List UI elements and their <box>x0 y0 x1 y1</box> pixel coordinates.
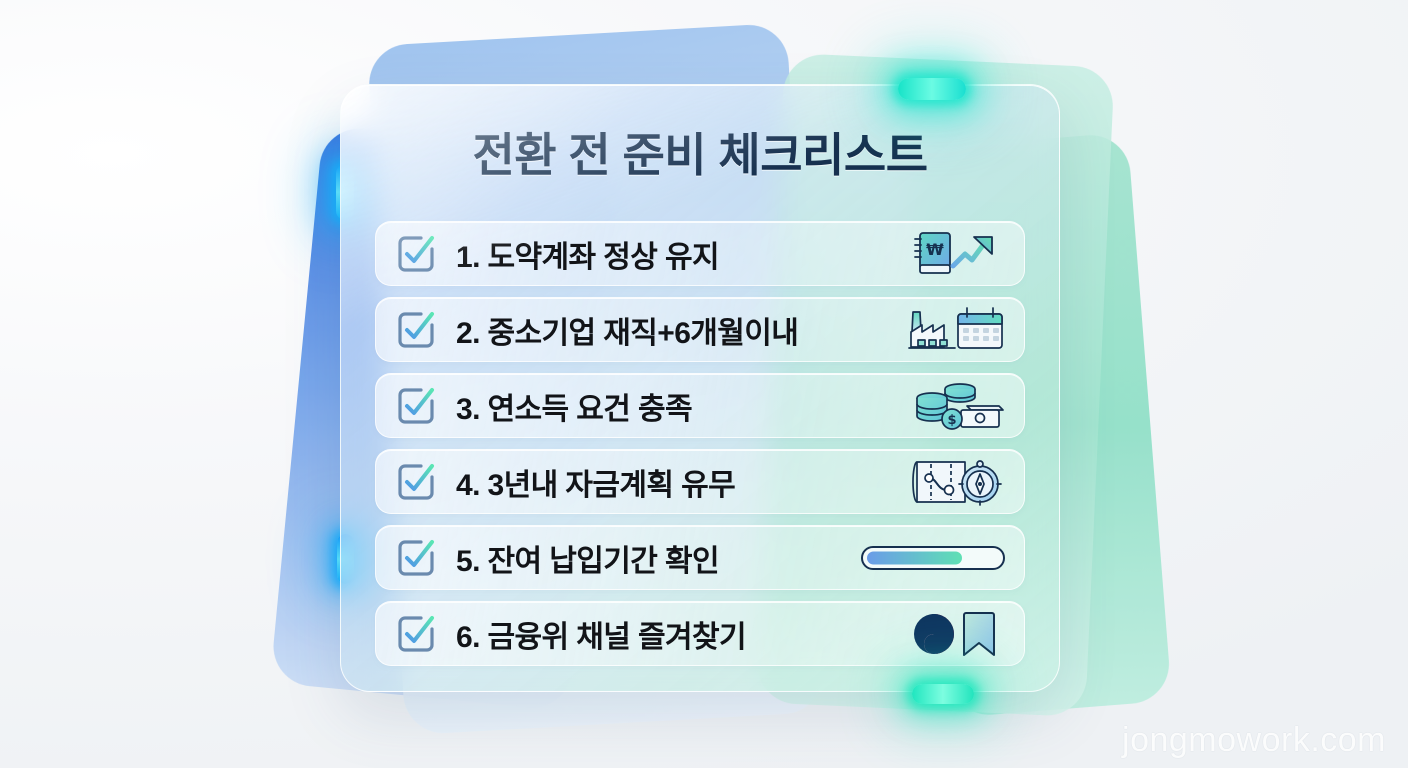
checklist-card: 전환 전 준비 체크리스트 1. 도약계좌 정상 유지 <box>340 84 1060 692</box>
factory-calendar-icon <box>902 303 1008 357</box>
watermark: jongmowork.com <box>1122 721 1386 760</box>
checkbox-checked-icon[interactable] <box>394 384 438 428</box>
checklist-item-6[interactable]: 6. 금융위 채널 즐겨찾기 <box>375 601 1025 666</box>
checklist-item-4[interactable]: 4. 3년내 자금계획 유무 <box>375 449 1025 514</box>
korea-government-emblem <box>914 614 954 654</box>
checklist-item-3[interactable]: 3. 연소득 요건 충족 <box>375 373 1025 438</box>
roadmap-compass-icon <box>902 455 1008 509</box>
progress-bar-icon <box>858 531 1008 585</box>
checklist-rows: 1. 도약계좌 정상 유지 <box>375 221 1025 666</box>
checklist-item-5[interactable]: 5. 잔여 납입기간 확인 <box>375 525 1025 590</box>
checklist-item-label: 4. 3년내 자금계획 유무 <box>456 460 735 504</box>
svg-text:$: $ <box>947 413 956 428</box>
page-title: 전환 전 준비 체크리스트 <box>341 119 1059 185</box>
checkbox-checked-icon[interactable] <box>394 536 438 580</box>
checkbox-checked-icon[interactable] <box>394 232 438 276</box>
korea-emblem-bookmark-icon <box>902 607 1008 661</box>
checklist-item-label: 1. 도약계좌 정상 유지 <box>456 232 719 276</box>
coins-banknote-icon: $ <box>902 379 1008 433</box>
checklist-item-label: 5. 잔여 납입기간 확인 <box>456 536 719 580</box>
checkbox-checked-icon[interactable] <box>394 308 438 352</box>
checklist-item-1[interactable]: 1. 도약계좌 정상 유지 <box>375 221 1025 286</box>
checkbox-checked-icon[interactable] <box>394 612 438 656</box>
checklist-item-label: 6. 금융위 채널 즐겨찾기 <box>456 612 746 656</box>
checklist-item-2[interactable]: 2. 중소기업 재직+6개월이내 <box>375 297 1025 362</box>
svg-text:₩: ₩ <box>926 240 944 259</box>
checklist-item-label: 3. 연소득 요건 충족 <box>456 384 692 428</box>
checklist-item-label: 2. 중소기업 재직+6개월이내 <box>456 308 798 352</box>
passbook-chart-icon: ₩ <box>902 227 1008 281</box>
checkbox-checked-icon[interactable] <box>394 460 438 504</box>
poster-stage: 전환 전 준비 체크리스트 1. 도약계좌 정상 유지 <box>0 0 1408 768</box>
